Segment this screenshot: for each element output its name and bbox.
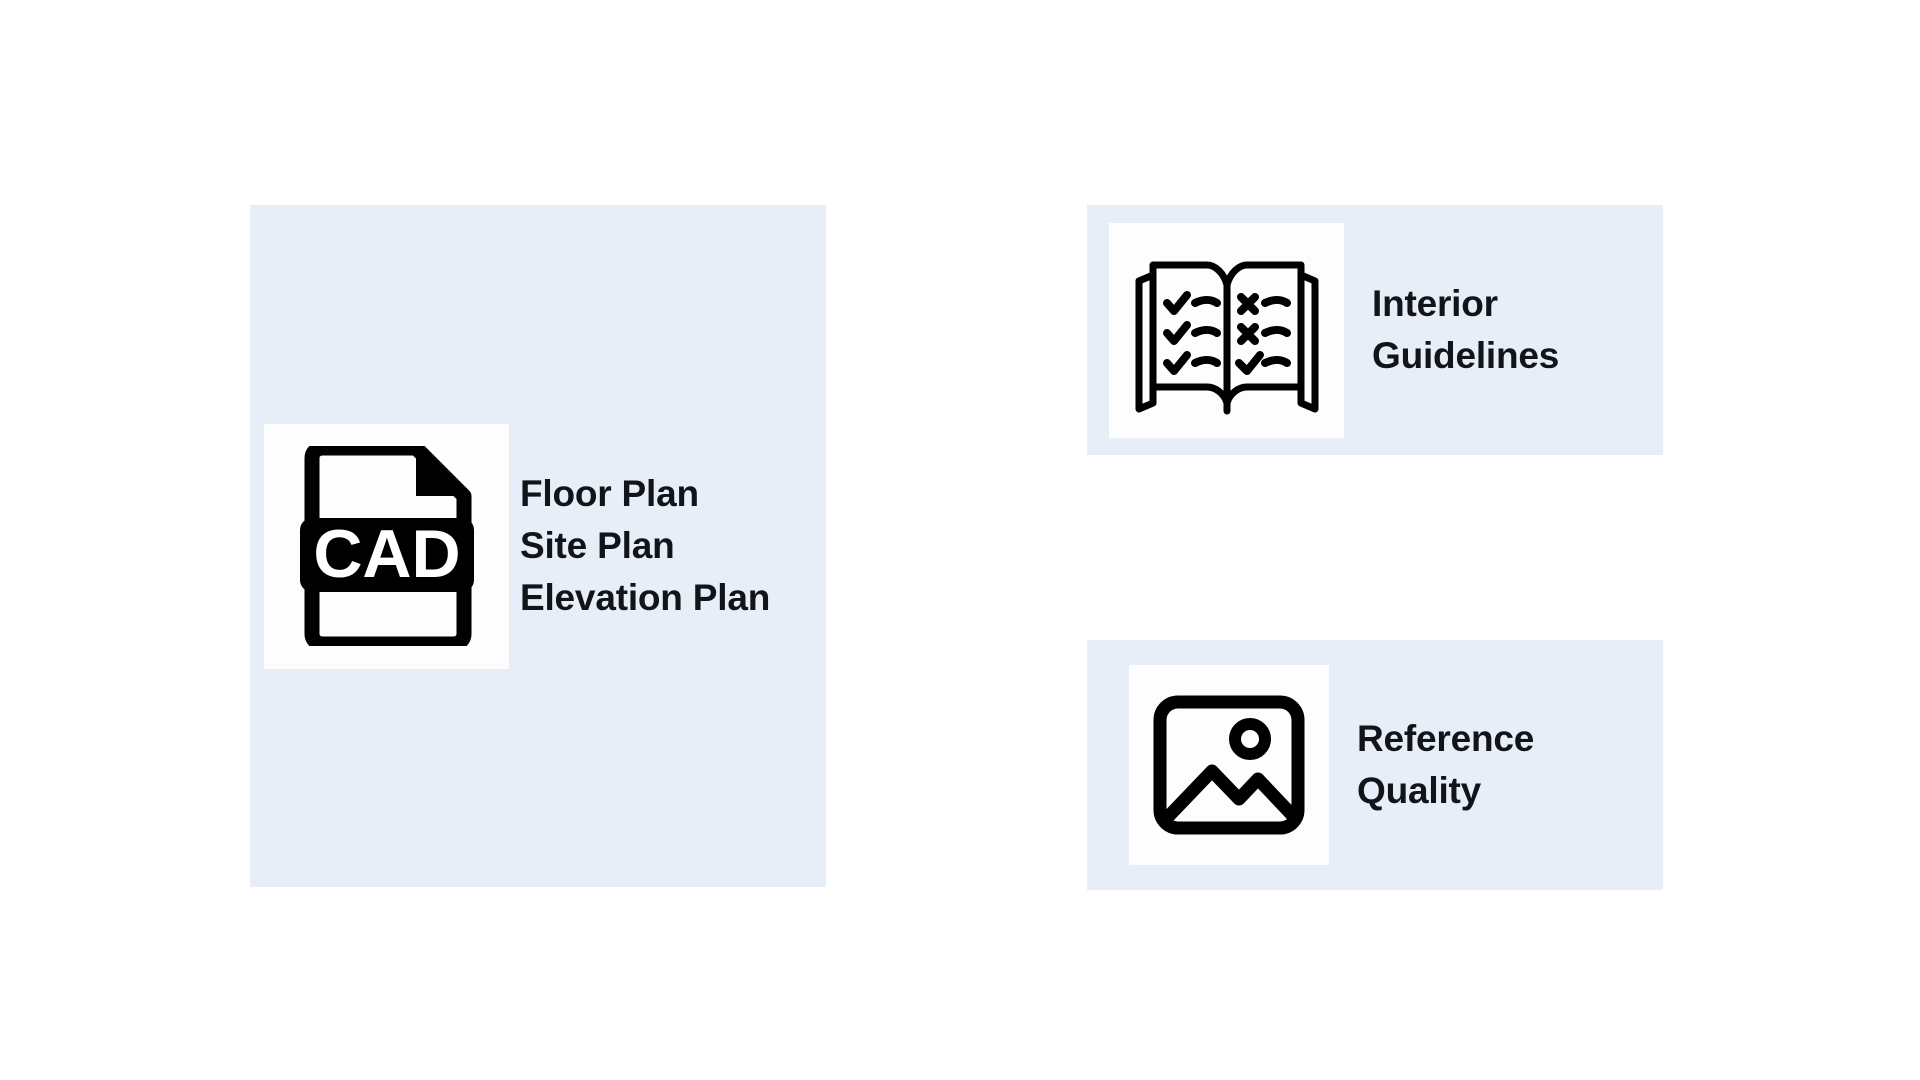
image-photo-icon [1153, 695, 1305, 835]
cad-badge-label: CAD [313, 516, 460, 592]
image-icon-tile [1129, 665, 1329, 865]
image-card-content: Reference Quality [1129, 665, 1534, 865]
cad-icon-tile: CAD [264, 424, 509, 669]
page-canvas: CAD Floor Plan Site Plan Elevation Plan [0, 0, 1920, 1080]
image-label-block: Reference Quality [1357, 713, 1534, 817]
image-label-line-1: Reference [1357, 713, 1534, 765]
card-cad-deliverables[interactable]: CAD Floor Plan Site Plan Elevation Plan [250, 205, 826, 887]
cad-label-line-2: Site Plan [520, 520, 770, 572]
book-label-block: Interior Guidelines [1372, 278, 1559, 382]
cad-file-icon: CAD [298, 446, 476, 646]
open-book-checklist-icon [1129, 241, 1325, 419]
book-label-line-1: Interior [1372, 278, 1559, 330]
book-card-content: Interior Guidelines [1109, 223, 1559, 438]
book-icon-tile [1109, 223, 1344, 438]
card-reference-quality[interactable]: Reference Quality [1087, 640, 1663, 890]
cad-label-line-1: Floor Plan [520, 468, 770, 520]
cad-label-block: Floor Plan Site Plan Elevation Plan [520, 468, 770, 624]
cad-card-content: CAD Floor Plan Site Plan Elevation Plan [264, 424, 770, 669]
book-label-line-2: Guidelines [1372, 330, 1559, 382]
image-label-line-2: Quality [1357, 765, 1534, 817]
cad-label-line-3: Elevation Plan [520, 572, 770, 624]
card-interior-guidelines[interactable]: Interior Guidelines [1087, 205, 1663, 455]
